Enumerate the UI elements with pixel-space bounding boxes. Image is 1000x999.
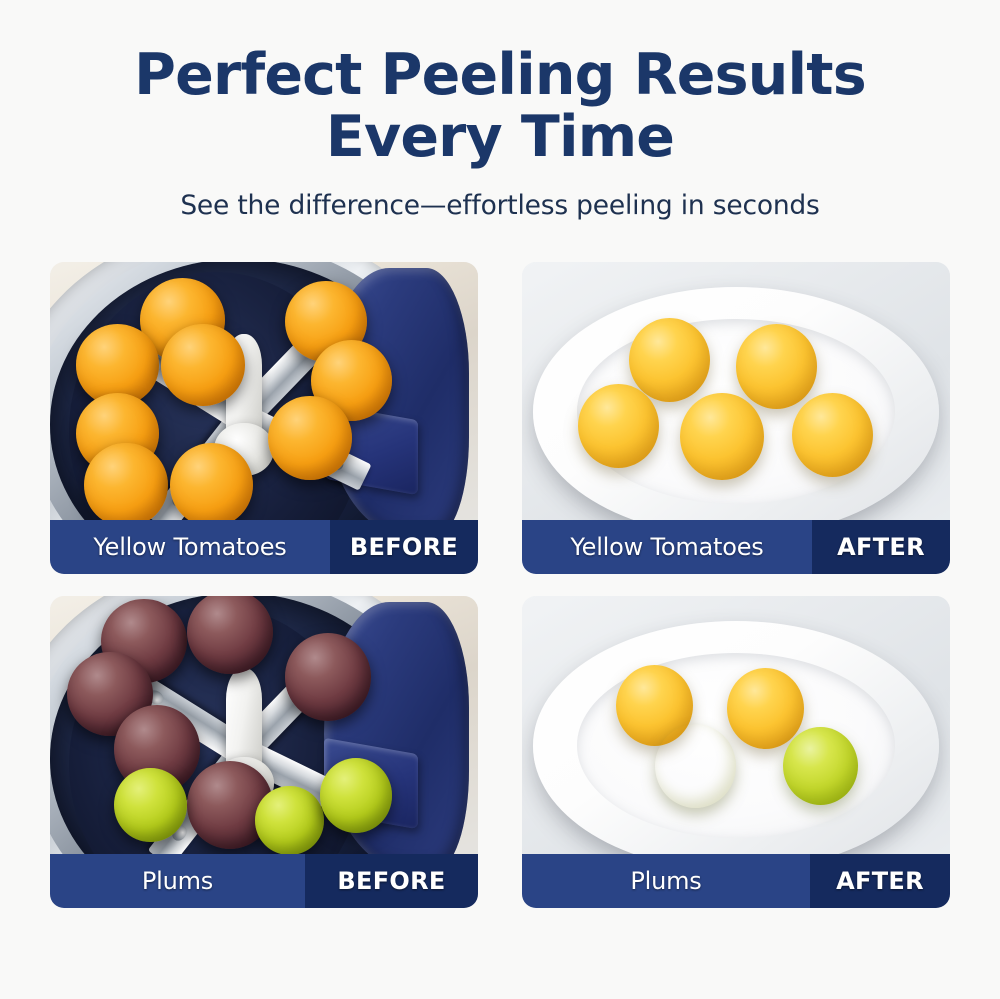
- page-title-line-1: Perfect Peeling Results: [134, 42, 866, 108]
- comparison-card-plums-after[interactable]: Plums AFTER: [522, 596, 950, 908]
- fruit-item: [255, 786, 323, 855]
- fruit-item: [161, 324, 244, 405]
- card-label-stage: BEFORE: [330, 520, 478, 574]
- peeled-fruit-item: [680, 393, 763, 480]
- comparison-card-plums-before[interactable]: Plums BEFORE: [50, 596, 478, 908]
- comparison-grid: Yellow Tomatoes BEFORE Yellow Tomatoes A…: [50, 262, 950, 908]
- card-label-bar: Plums BEFORE: [50, 854, 478, 908]
- card-label-bar: Yellow Tomatoes BEFORE: [50, 520, 478, 574]
- comparison-card-yellow-tomatoes-after[interactable]: Yellow Tomatoes AFTER: [522, 262, 950, 574]
- fruit-item: [320, 758, 393, 833]
- page-subtitle: See the difference—effortless peeling in…: [0, 168, 1000, 221]
- card-label-name: Plums: [50, 854, 305, 908]
- card-label-stage: AFTER: [810, 854, 950, 908]
- card-label-bar: Plums AFTER: [522, 854, 950, 908]
- white-plate: [533, 621, 940, 871]
- fruit-item: [84, 443, 167, 527]
- fruit-item: [114, 768, 187, 843]
- card-label-name: Yellow Tomatoes: [50, 520, 330, 574]
- peeled-fruit-item: [792, 393, 873, 477]
- page-header: Perfect Peeling Results Every Time See t…: [0, 0, 1000, 221]
- fruit-item: [187, 596, 273, 674]
- card-label-stage: BEFORE: [305, 854, 478, 908]
- card-label-name: Yellow Tomatoes: [522, 520, 812, 574]
- card-label-name: Plums: [522, 854, 810, 908]
- page-title: Perfect Peeling Results Every Time: [0, 0, 1000, 168]
- peeled-fruit-item: [578, 384, 659, 468]
- peeled-fruit-item: [727, 668, 804, 749]
- card-label-bar: Yellow Tomatoes AFTER: [522, 520, 950, 574]
- peeled-fruit-item: [655, 724, 736, 808]
- card-label-stage: AFTER: [812, 520, 950, 574]
- fruit-item: [285, 633, 371, 720]
- peeled-fruit-item: [783, 727, 858, 805]
- page-title-line-2: Every Time: [0, 106, 1000, 168]
- comparison-card-yellow-tomatoes-before[interactable]: Yellow Tomatoes BEFORE: [50, 262, 478, 574]
- peeled-fruit-item: [736, 324, 817, 408]
- fruit-item: [170, 443, 253, 527]
- fruit-item: [268, 396, 351, 480]
